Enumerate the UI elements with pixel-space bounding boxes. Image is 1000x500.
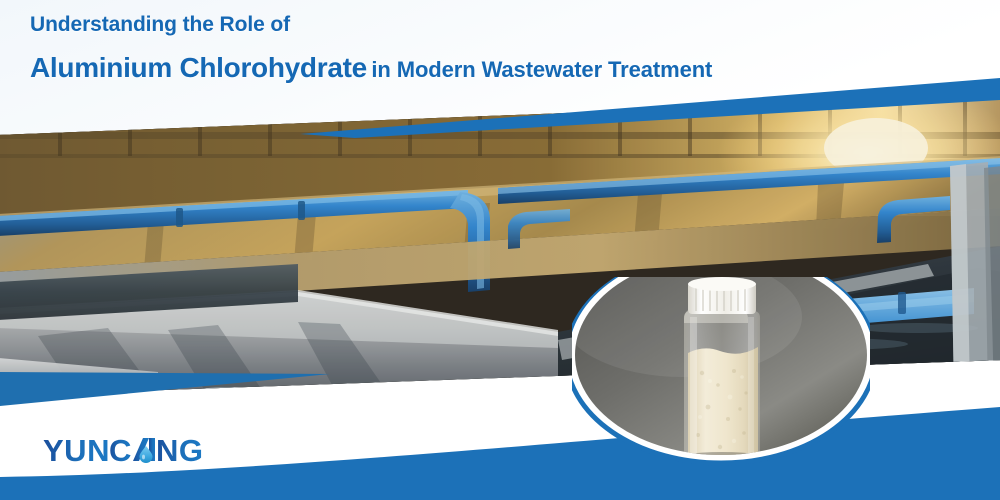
headline-line-2: Aluminium Chlorohydrate in Modern Wastew… — [30, 54, 910, 82]
headline-line-1: Understanding the Role of — [30, 14, 910, 35]
logo-text-yun: YUN — [43, 433, 110, 468]
logo-text-c: C — [109, 433, 132, 468]
droplet-highlight — [142, 455, 145, 460]
top-accent-wedge — [300, 78, 1000, 138]
headline-line-2-rest: in Modern Wastewater Treatment — [371, 57, 712, 82]
logo-text-ng: NG — [156, 433, 204, 468]
company-logo[interactable]: YUN C NG — [43, 430, 243, 474]
product-circle-inset — [572, 277, 870, 467]
headline-product-name: Aluminium Chlorohydrate — [30, 52, 367, 83]
marketing-banner: Understanding the Role of Aluminium Chlo… — [0, 0, 1000, 500]
headline-block: Understanding the Role of Aluminium Chlo… — [30, 14, 910, 82]
